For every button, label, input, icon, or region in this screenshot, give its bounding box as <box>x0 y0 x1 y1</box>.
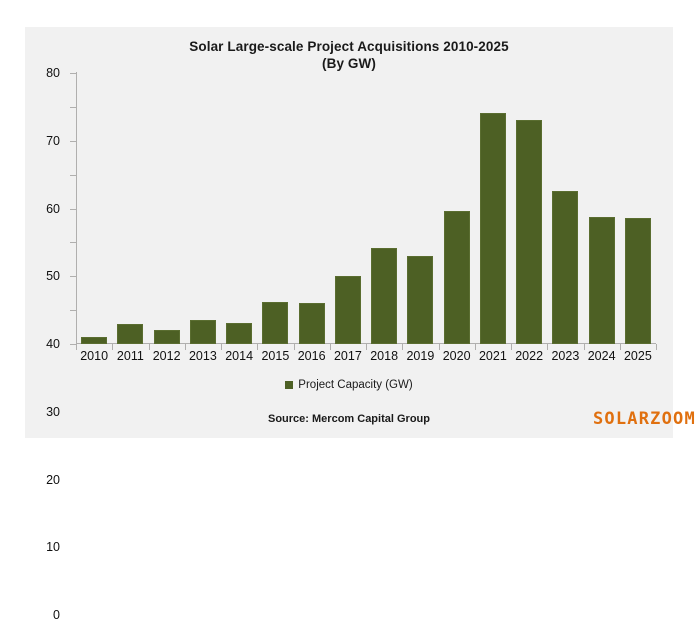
bar-2024[interactable] <box>589 217 615 344</box>
source-note: Source: Mercom Capital Group <box>25 413 673 425</box>
legend-label-project-capacity: Project Capacity (GW) <box>298 379 412 391</box>
bar-2015[interactable] <box>262 302 288 344</box>
bar-series <box>76 73 656 344</box>
x-axis-label-2010: 2010 <box>80 349 108 363</box>
y-axis-tick-label: 0 <box>53 608 60 622</box>
bar-2025[interactable] <box>625 218 651 344</box>
bar-2023[interactable] <box>552 191 578 344</box>
chart-panel: Solar Large-scale Project Acquisitions 2… <box>25 27 673 438</box>
x-axis-label-2017: 2017 <box>334 349 362 363</box>
x-axis-label-2011: 2011 <box>117 349 144 363</box>
chart-legend: Project Capacity (GW) <box>25 379 673 391</box>
bar-2013[interactable] <box>190 320 216 344</box>
chart-title: Solar Large-scale Project Acquisitions 2… <box>25 38 673 72</box>
x-axis-label-2024: 2024 <box>588 349 616 363</box>
x-axis-label-2023: 2023 <box>551 349 579 363</box>
chart-title-line1: Solar Large-scale Project Acquisitions 2… <box>189 39 508 54</box>
x-axis-label-2013: 2013 <box>189 349 217 363</box>
x-axis-label-2016: 2016 <box>298 349 326 363</box>
solarzoom-watermark: SOLARZOOM <box>593 409 696 429</box>
x-axis-tick <box>656 344 657 350</box>
x-axis-label-2015: 2015 <box>261 349 289 363</box>
bar-2010[interactable] <box>81 337 107 344</box>
x-axis-label-2018: 2018 <box>370 349 398 363</box>
bar-2011[interactable] <box>117 324 143 344</box>
bar-2016[interactable] <box>299 303 325 344</box>
bar-2018[interactable] <box>371 248 397 344</box>
y-axis-tick-label: 50 <box>46 269 60 283</box>
bar-2019[interactable] <box>407 256 433 344</box>
bar-2022[interactable] <box>516 120 542 344</box>
y-axis-tick-label: 20 <box>46 473 60 487</box>
y-axis-tick-label: 60 <box>46 202 60 216</box>
y-axis-tick-label: 40 <box>46 337 60 351</box>
bar-2021[interactable] <box>480 113 506 344</box>
x-axis-label-2022: 2022 <box>515 349 543 363</box>
x-axis-label-2020: 2020 <box>443 349 471 363</box>
bar-2012[interactable] <box>154 330 180 344</box>
plot-area: 01020304050607080 <box>76 73 656 344</box>
x-axis-label-2019: 2019 <box>406 349 434 363</box>
x-axis-label-2021: 2021 <box>479 349 507 363</box>
chart-title-line2: (By GW) <box>25 55 673 72</box>
x-axis-label-2025: 2025 <box>624 349 652 363</box>
y-axis-tick-label: 10 <box>46 540 60 554</box>
y-axis-tick-label: 80 <box>46 66 60 80</box>
legend-swatch-project-capacity <box>285 381 293 389</box>
bar-2017[interactable] <box>335 276 361 344</box>
x-axis-label-2014: 2014 <box>225 349 253 363</box>
bar-2020[interactable] <box>444 211 470 344</box>
bar-2014[interactable] <box>226 323 252 344</box>
y-axis-tick-label: 70 <box>46 134 60 148</box>
x-axis-labels: 2010201120122013201420152016201720182019… <box>76 349 656 367</box>
x-axis-label-2012: 2012 <box>153 349 181 363</box>
